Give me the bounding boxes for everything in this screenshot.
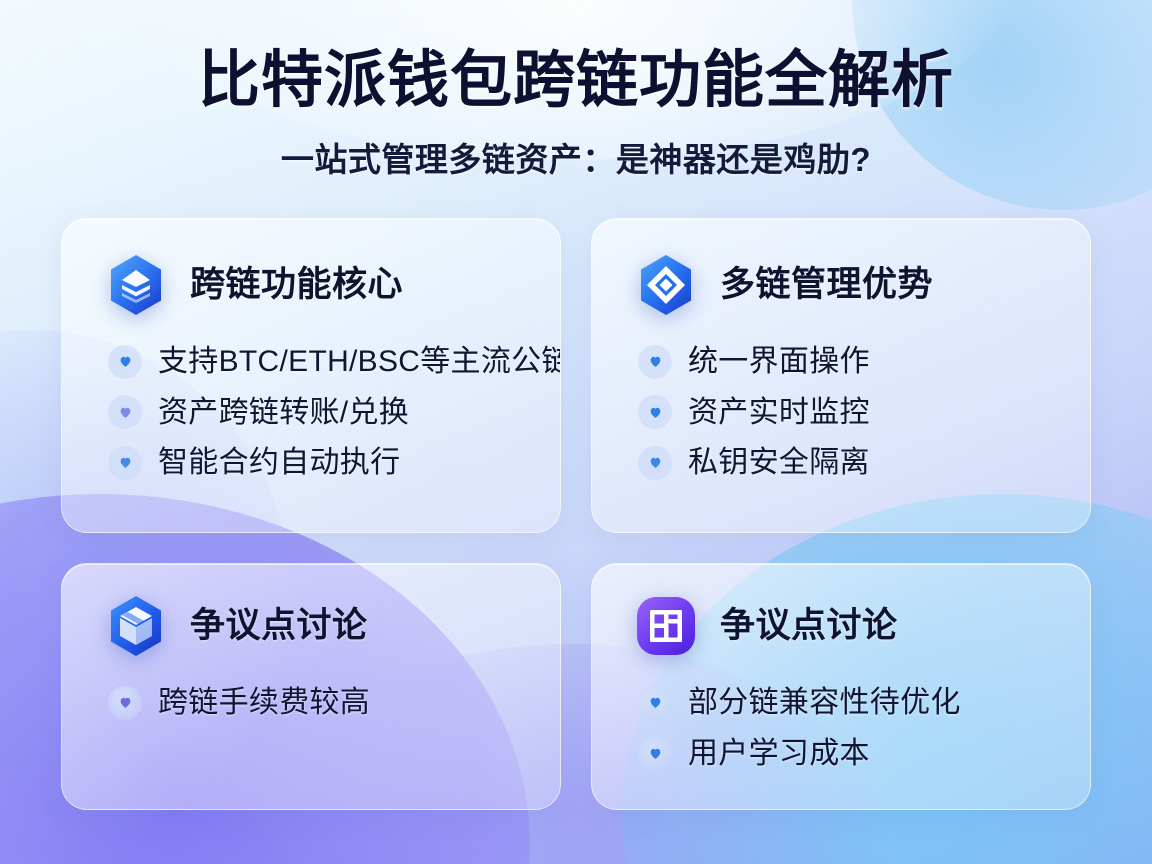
bullet-label: 用户学习成本 [688, 735, 870, 773]
bullet-droplet-icon [108, 686, 142, 720]
list-item: 统一界面操作 [638, 343, 1060, 381]
bullet-droplet-icon [108, 446, 142, 480]
card-title: 争议点讨论 [190, 607, 368, 646]
card-dispute-fees[interactable]: 争议点讨论 跨链手续费较高 [61, 563, 561, 810]
poster-content: 比特派钱包跨链功能全解析 一站式管理多链资产：是神器还是鸡肋? [0, 0, 1152, 864]
card-header: 争议点讨论 [104, 594, 530, 658]
bullet-droplet-icon [638, 345, 672, 379]
list-item: 支持BTC/ETH/BSC等主流公链 [108, 343, 530, 381]
card-header: 多链管理优势 [634, 253, 1060, 317]
list-item: 部分链兼容性待优化 [638, 684, 1060, 722]
bullet-label: 资产跨链转账/兑换 [158, 394, 409, 432]
list-item: 用户学习成本 [638, 735, 1060, 773]
bullet-droplet-icon [108, 395, 142, 429]
hexagon-cube-icon [104, 594, 168, 658]
poster-header: 比特派钱包跨链功能全解析 一站式管理多链资产：是神器还是鸡肋? [0, 0, 1152, 181]
card-title: 多链管理优势 [720, 266, 933, 305]
feature-card-grid: 跨链功能核心 支持BTC/ETH/BSC等主流公链 [61, 218, 1091, 810]
list-item: 资产实时监控 [638, 394, 1060, 432]
page-subtitle: 一站式管理多链资产：是神器还是鸡肋? [0, 133, 1152, 181]
hexagon-diamond-icon [634, 253, 698, 317]
squircle-grid-icon [634, 594, 698, 658]
bullet-list: 统一界面操作 资产实时监控 [634, 343, 1060, 482]
poster-root: 比特派钱包跨链功能全解析 一站式管理多链资产：是神器还是鸡肋? [0, 0, 1152, 864]
bullet-droplet-icon [638, 686, 672, 720]
card-dispute-compatibility[interactable]: 争议点讨论 部分链兼容性待优化 [591, 563, 1091, 810]
card-title: 跨链功能核心 [190, 266, 403, 305]
card-multi-chain-advantage[interactable]: 多链管理优势 统一界面操作 [591, 218, 1091, 533]
list-item: 资产跨链转账/兑换 [108, 394, 530, 432]
card-header: 跨链功能核心 [104, 253, 530, 317]
list-item: 跨链手续费较高 [108, 684, 530, 722]
card-title: 争议点讨论 [720, 607, 898, 646]
page-title: 比特派钱包跨链功能全解析 [0, 44, 1152, 117]
bullet-list: 跨链手续费较高 [104, 684, 530, 722]
bullet-droplet-icon [638, 395, 672, 429]
card-header: 争议点讨论 [634, 594, 1060, 658]
bullet-label: 资产实时监控 [688, 394, 870, 432]
bullet-label: 部分链兼容性待优化 [688, 684, 961, 722]
list-item: 智能合约自动执行 [108, 444, 530, 482]
bullet-label: 智能合约自动执行 [158, 444, 400, 482]
hexagon-layers-icon [104, 253, 168, 317]
bullet-list: 部分链兼容性待优化 用户学习成本 [634, 684, 1060, 772]
bullet-list: 支持BTC/ETH/BSC等主流公链 资产跨链转账/兑换 [104, 343, 530, 482]
bullet-droplet-icon [638, 446, 672, 480]
bullet-label: 统一界面操作 [688, 343, 870, 381]
bullet-label: 跨链手续费较高 [158, 684, 370, 722]
bullet-label: 支持BTC/ETH/BSC等主流公链 [158, 343, 561, 381]
bullet-droplet-icon [638, 736, 672, 770]
bullet-droplet-icon [108, 345, 142, 379]
bullet-label: 私钥安全隔离 [688, 444, 870, 482]
list-item: 私钥安全隔离 [638, 444, 1060, 482]
card-cross-chain-core[interactable]: 跨链功能核心 支持BTC/ETH/BSC等主流公链 [61, 218, 561, 533]
